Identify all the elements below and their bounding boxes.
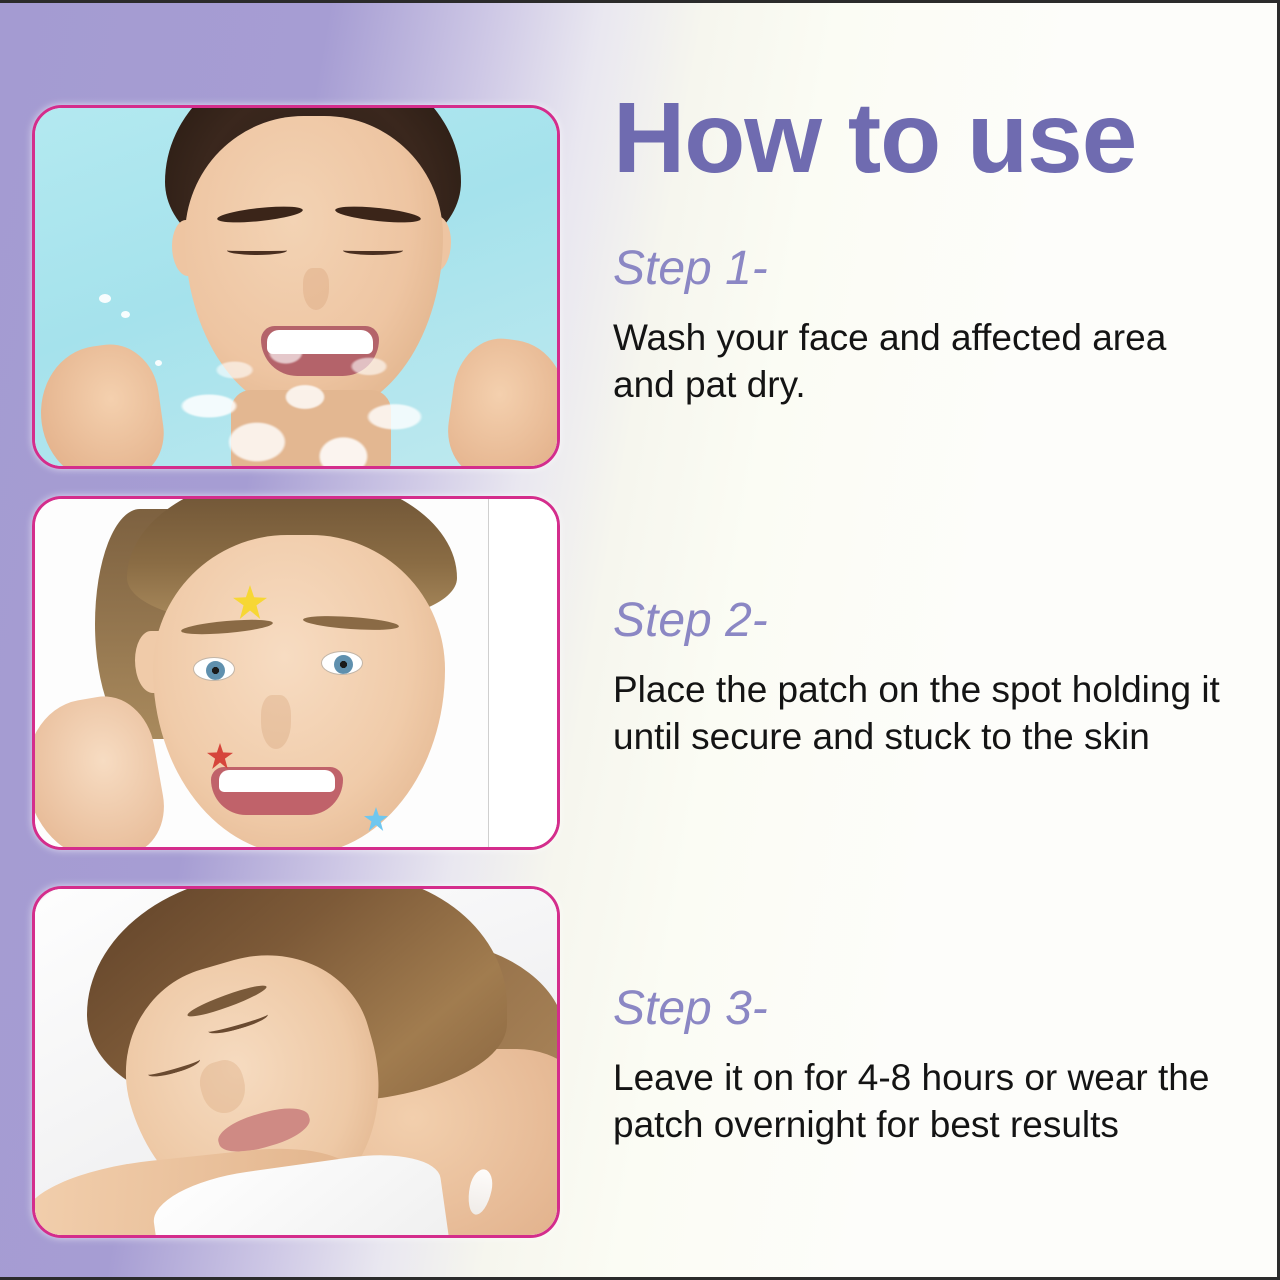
photo-white-panel (489, 499, 557, 847)
woman-sleeping-photo (35, 889, 557, 1235)
step-2-photo-card (32, 496, 560, 850)
photo-seam-divider (488, 499, 489, 847)
mouth-shape (211, 767, 343, 815)
step-3-description: Leave it on for 4-8 hours or wear the pa… (613, 1054, 1221, 1149)
woman-washing-face-photo (35, 108, 557, 466)
step-3-label: Step 3- (613, 983, 1233, 1036)
water-drop-icon (121, 311, 130, 318)
water-drop-icon (99, 294, 111, 303)
step-1-photo-card (32, 105, 560, 469)
canvas-top-edge (0, 0, 1280, 3)
how-to-use-infographic: How to use Step 1- Wash your face and af… (0, 0, 1280, 1280)
water-splash-shape (145, 298, 465, 466)
step-1-label: Step 1- (613, 243, 1233, 296)
nose-shape (261, 695, 291, 749)
iris-shape (206, 661, 225, 680)
photo-column (0, 0, 592, 1280)
step-3-block: Step 3- Leave it on for 4-8 hours or wea… (613, 983, 1233, 1149)
iris-shape (334, 655, 353, 674)
page-title: How to use (613, 88, 1136, 188)
step-2-label: Step 2- (613, 595, 1233, 648)
step-1-block: Step 1- Wash your face and affected area… (613, 243, 1233, 409)
step-2-description: Place the patch on the spot holding it u… (613, 666, 1221, 761)
eye-right-shape (321, 651, 363, 675)
text-column: How to use Step 1- Wash your face and af… (608, 0, 1248, 1280)
teeth-shape (219, 770, 335, 792)
woman-with-star-patches-photo (35, 499, 557, 847)
step-2-block: Step 2- Place the patch on the spot hold… (613, 595, 1233, 761)
eye-right-shape (343, 246, 403, 255)
eye-left-shape (193, 657, 235, 681)
eye-left-shape (227, 246, 287, 255)
step-3-photo-card (32, 886, 560, 1238)
step-1-description: Wash your face and affected area and pat… (613, 314, 1221, 409)
